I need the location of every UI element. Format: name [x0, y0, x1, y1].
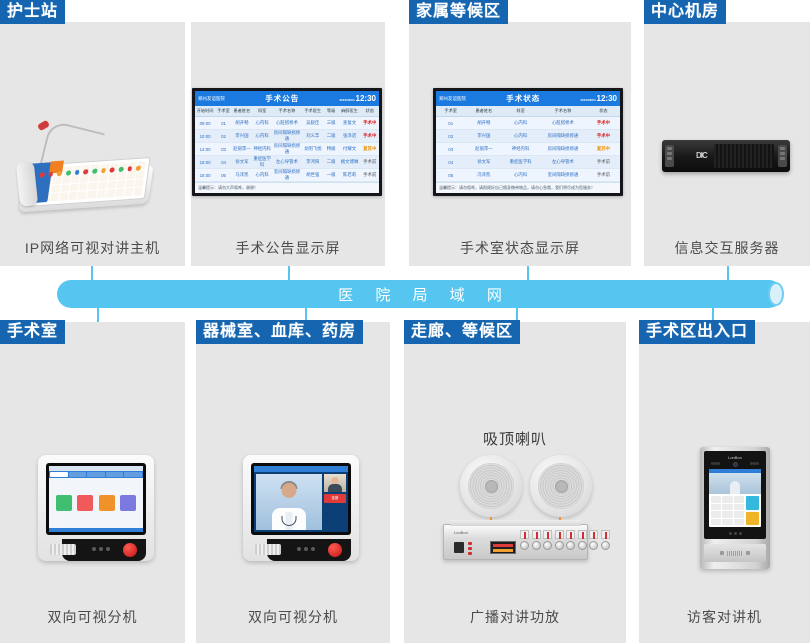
chip-nurse-station: 护士站	[0, 0, 65, 24]
hospital-name: 郑州友谊医院	[439, 96, 466, 102]
table-row: 04 徐文军 重症医学科 左心导管术 手术前	[436, 156, 620, 169]
status-footer-ticker: 温馨提示：请勿喧哗，请照顾好自己随身携带物品，请勿心急哦，我们将尽成为您服务！	[436, 182, 620, 193]
announcement-header: 郑州友谊医院 手术公告 2021/03/04 12:30	[195, 91, 379, 106]
caption-video-extension-1: 双向可视分机	[0, 590, 185, 643]
tablet-tabs[interactable]	[49, 471, 143, 478]
clock: 2021/03/04 12:30	[340, 94, 376, 103]
amp-power-switch[interactable]	[454, 542, 464, 553]
col-dept: 科室	[502, 106, 539, 116]
clock: 2021/03/04 12:30	[581, 94, 617, 103]
table-row: 05 冯泽凯 心内科 室间隔缺损修通 手术前	[436, 169, 620, 182]
announcement-footer-ticker: 温馨提示：请勿大声喧哗，谢谢！	[195, 182, 379, 193]
status-header: 郑州友谊医院 手术状态 2021/03/04 12:30	[436, 91, 620, 106]
lan-bar-label: 医 院 局 域 网	[329, 284, 511, 305]
device-video-call-tablet: 挂断	[243, 455, 359, 561]
col-patient: 患者姓名	[465, 106, 502, 116]
status-badge: 手术前	[361, 159, 379, 165]
tablet-call-buttons[interactable]	[49, 478, 143, 528]
door-camera-preview	[709, 473, 761, 494]
amp-volume-knobs[interactable]	[520, 541, 610, 550]
remote-video-feed	[256, 474, 322, 530]
chip-supply-rooms: 器械室、血库、药房	[196, 320, 363, 344]
chip-corridor-waiting: 走廊、等候区	[404, 320, 520, 344]
device-surgery-status-display: 郑州友谊医院 手术状态 2021/03/04 12:30 手术室 患者姓名 科室…	[433, 88, 623, 196]
emergency-button-icon[interactable]	[328, 543, 342, 557]
table-row: 14:00 03 赵丽萍一 神经内科 房间隔缺损修通 龙明飞扬 特级 付耀文 复…	[195, 143, 379, 156]
device-surgery-announcement-display: 郑州友谊医院 手术公告 2021/03/04 12:30 开始时间 手术室 患者…	[192, 88, 382, 196]
status-badge: 手术中	[587, 120, 620, 126]
col-anesthetist: 麻醉医生	[338, 106, 360, 116]
tablet-hardware-keys[interactable]	[297, 547, 315, 551]
screen-title: 手术公告	[265, 93, 299, 104]
col-start-time: 开始时间	[195, 106, 215, 116]
col-status: 状态	[361, 106, 379, 116]
speaker-grill-icon	[50, 544, 76, 555]
door-unlock-button[interactable]	[746, 512, 759, 526]
announcement-table-body: 09:00 01 胡开畅 心内科 心脏搭桥术 吴毅佳 三级 查复文 手术中 10…	[195, 117, 379, 182]
door-sensor-row	[709, 462, 761, 467]
clock-date: 2021/03/04	[581, 99, 596, 102]
device-video-extension-tablet	[38, 455, 154, 561]
status-badge: 手术前	[587, 172, 620, 178]
table-row: 10:00 02 李兴国 心内科 房间隔缺损修通 刘义丰 二级 张泽诺 手术中	[195, 130, 379, 143]
caption-announcement-display: 手术公告显示屏	[191, 230, 385, 266]
network-topology-diagram: 护士站 家属等候区 中心机房 郑州	[0, 0, 810, 643]
device-rack-server: DIC	[662, 140, 790, 172]
col-procedure: 手术名称	[539, 106, 587, 116]
announcement-table-header: 开始时间 手术室 患者姓名 科室 手术名称 手术医生 等级 麻醉医生 状态	[195, 106, 379, 117]
table-row: 15:00 04 徐文军 重症医学科 左心导管术 李鸿阳 二级 姚文博琳 手术前	[195, 156, 379, 169]
caption-door-station: 访客对讲机	[639, 590, 810, 643]
camera-icon	[733, 462, 738, 467]
amp-vu-meter	[490, 541, 516, 554]
tablet-chin	[46, 539, 146, 561]
mic-capsule-icon	[37, 120, 50, 132]
emergency-button-icon[interactable]	[123, 543, 137, 557]
hospital-name: 郑州友谊医院	[198, 96, 225, 102]
chip-surgery-entrance: 手术区出入口	[639, 320, 755, 344]
chip-operating-room: 手术室	[0, 320, 65, 344]
ceiling-speaker-right	[530, 455, 592, 517]
video-call-area: 挂断	[254, 472, 348, 532]
status-badge: 手术中	[361, 133, 379, 139]
device-pa-amplifier: LonBon	[443, 524, 588, 560]
hangup-button[interactable]: 挂断	[324, 494, 346, 503]
server-logo: DIC	[696, 151, 707, 160]
tablet-screen: 挂断	[251, 463, 351, 535]
col-status: 状态	[587, 106, 620, 116]
col-or: 手术室	[215, 106, 232, 116]
caption-video-extension-2: 双向可视分机	[196, 590, 390, 643]
screen-title: 手术状态	[506, 93, 540, 104]
chip-family-waiting: 家属等候区	[409, 0, 508, 24]
table-row: 09:00 01 胡开畅 心内科 心脏搭桥术 吴毅佳 三级 查复文 手术中	[195, 117, 379, 130]
status-badge: 复苏中	[361, 146, 379, 152]
ceiling-speaker-label: 吸顶喇叭	[424, 428, 606, 449]
status-badge: 手术中	[361, 120, 379, 126]
amp-indicator-leds	[468, 542, 472, 555]
door-screen	[709, 469, 761, 527]
col-dept: 科室	[252, 106, 272, 116]
tablet-hardware-keys[interactable]	[92, 547, 110, 551]
chip-central-server-room: 中心机房	[644, 0, 726, 24]
caption-ip-intercom-console: IP网络可视对讲主机	[0, 230, 185, 266]
clock-time: 12:30	[356, 94, 376, 103]
caption-info-server: 信息交互服务器	[644, 230, 810, 266]
hospital-lan-bar: 医 院 局 域 网	[57, 280, 783, 308]
col-or: 手术室	[436, 106, 465, 116]
tablet-statusbar	[49, 528, 143, 532]
clock-date: 2021/03/04	[340, 99, 355, 102]
table-row: 02 李兴国 心内科 房间隔缺损修通 手术中	[436, 130, 620, 143]
ceiling-speaker-left	[460, 455, 522, 517]
door-call-button[interactable]	[746, 496, 759, 510]
door-speaker-panel	[704, 544, 766, 562]
emergency-call-button[interactable]	[77, 495, 93, 511]
tablet-screen	[46, 463, 146, 535]
status-table-body: 01 胡开畅 心内科 心脏搭桥术 手术中 02 李兴国 心内科 房间隔缺损修通 …	[436, 117, 620, 182]
status-badge: 手术前	[361, 172, 379, 178]
table-row: 15:00 05 马泽凯 心内科 室间隔缺损修通 胡世强 一级 陈若莉 手术前	[195, 169, 379, 182]
speaker-grill-icon	[255, 544, 281, 555]
status-badge: 复苏中	[587, 146, 620, 152]
amp-zone-switches[interactable]	[520, 530, 610, 539]
status-badge: 手术前	[587, 159, 620, 165]
table-row: 01 胡开畅 心内科 心脏搭桥术 手术中	[436, 117, 620, 130]
door-keypad[interactable]	[711, 496, 744, 525]
clock-time: 12:30	[597, 94, 617, 103]
server-vents	[714, 144, 774, 168]
self-video-pip	[324, 474, 346, 492]
caption-pa-amplifier: 广播对讲功放	[404, 590, 626, 643]
amp-brand: LonBon	[454, 530, 468, 535]
col-patient: 患者姓名	[232, 106, 252, 116]
panel-server-room	[644, 22, 810, 230]
table-row: 03 赵丽萍一 神经内科 房间隔缺损修通 复苏中	[436, 143, 620, 156]
col-surgeon: 手术医生	[302, 106, 324, 116]
device-door-station: LonBon	[700, 447, 770, 569]
lan-bar-endcap	[768, 282, 784, 306]
col-procedure: 手术名称	[272, 106, 301, 116]
status-badge: 手术中	[587, 133, 620, 139]
status-table-header: 手术室 患者姓名 科室 手术名称 状态	[436, 106, 620, 117]
device-ip-intercom-console	[0, 22, 185, 212]
tablet-chin	[251, 539, 351, 561]
caption-status-display: 手术室状态显示屏	[409, 230, 631, 266]
call-doctor-button[interactable]	[99, 495, 115, 511]
broadcast-button[interactable]	[120, 495, 136, 511]
door-brand: LonBon	[709, 455, 761, 460]
door-mic-row	[729, 532, 742, 535]
call-nurse-button[interactable]	[56, 495, 72, 511]
col-grade: 等级	[324, 106, 339, 116]
